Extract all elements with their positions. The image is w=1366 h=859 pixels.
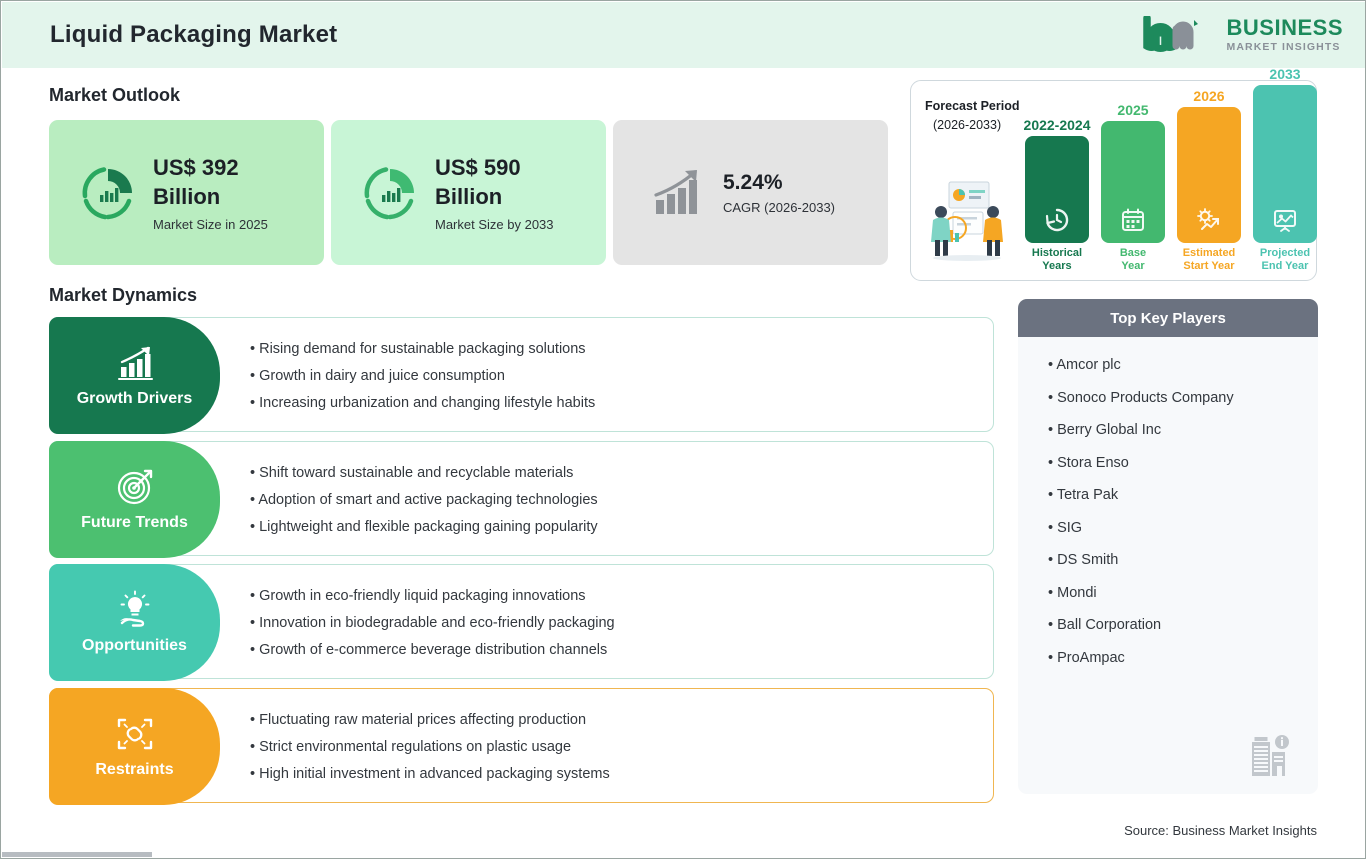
list-item: SIG xyxy=(1048,520,1318,536)
forecast-bar-estimated-start-year: 2026 Estimated Start Year xyxy=(1177,88,1241,275)
list-item: Berry Global Inc xyxy=(1048,422,1318,438)
market-outlook-heading: Market Outlook xyxy=(49,85,180,106)
dynamics-tab[interactable]: Future Trends xyxy=(49,441,220,558)
stat-caption: Market Size in 2025 xyxy=(153,217,268,232)
dynamics-card-future-trends: Future Trends Shift toward sustainable a… xyxy=(49,441,994,556)
page-title: Liquid Packaging Market xyxy=(50,21,337,49)
list-item: Innovation in biodegradable and eco-frie… xyxy=(250,615,981,631)
forecast-bar-base-year: 2025 Base Year xyxy=(1101,102,1165,275)
market-dynamics-heading: Market Dynamics xyxy=(49,285,197,306)
team-analytics-illustration xyxy=(919,176,1015,262)
list-item: High initial investment in advanced pack… xyxy=(250,766,981,782)
bar-caption: Historical Years xyxy=(1032,247,1082,275)
forecast-period-label: Forecast Period (2026-2033) xyxy=(925,97,1019,136)
list-item: Rising demand for sustainable packaging … xyxy=(250,341,981,357)
list-item: Sonoco Products Company xyxy=(1048,390,1318,406)
dynamics-bullet-list: Rising demand for sustainable packaging … xyxy=(250,318,981,433)
top-key-players-title: Top Key Players xyxy=(1018,299,1318,337)
list-item: Ball Corporation xyxy=(1048,617,1318,633)
list-item: Growth of e-commerce beverage distributi… xyxy=(250,642,981,658)
bar-year-label: 2025 xyxy=(1117,102,1148,118)
dynamics-tab-label: Restraints xyxy=(95,761,173,779)
list-item: Fluctuating raw material prices affectin… xyxy=(250,712,981,728)
dynamics-tab[interactable]: Restraints xyxy=(49,688,220,805)
list-item: Lightweight and flexible packaging gaini… xyxy=(250,519,981,535)
list-item: Amcor plc xyxy=(1048,357,1318,373)
forecast-label-line1: Forecast Period xyxy=(925,97,1019,116)
dynamics-card-opportunities: Opportunities Growth in eco-friendly liq… xyxy=(49,564,994,679)
list-item: Shift toward sustainable and recyclable … xyxy=(250,465,981,481)
page-header: Liquid Packaging Market BUSINESS MARKET … xyxy=(2,2,1365,68)
dynamics-tab-label: Growth Drivers xyxy=(77,390,193,408)
donut-chart-icon xyxy=(361,164,419,222)
bar-year-label: 2033 xyxy=(1269,66,1300,82)
logo-tagline-text: MARKET INSIGHTS xyxy=(1227,42,1343,53)
bar-body xyxy=(1101,121,1165,243)
dynamics-card-restraints: Restraints Fluctuating raw material pric… xyxy=(49,688,994,803)
forecast-period-panel: Forecast Period (2026-2033) xyxy=(910,80,1317,281)
calendar-icon xyxy=(1120,207,1146,233)
company-building-info-icon xyxy=(1246,732,1292,778)
list-item: ProAmpac xyxy=(1048,650,1318,666)
target-dart-icon xyxy=(115,467,155,507)
bar-caption: Base Year xyxy=(1120,247,1146,275)
forecast-bar-historical-years: 2022-2024 Historical Years xyxy=(1025,117,1089,275)
list-item: Increasing urbanization and changing lif… xyxy=(250,395,981,411)
bar-body xyxy=(1177,107,1241,243)
lightbulb-hand-icon xyxy=(115,590,155,630)
stat-value-line2: Billion xyxy=(435,182,554,211)
cagr-caption: CAGR (2026-2033) xyxy=(723,200,835,215)
bar-caption: Projected End Year xyxy=(1260,247,1310,275)
list-item: Stora Enso xyxy=(1048,455,1318,471)
broken-link-brackets-icon xyxy=(115,714,155,754)
stat-card-market-size-2025: US$ 392 Billion Market Size in 2025 xyxy=(49,120,324,265)
presentation-chart-icon xyxy=(1272,207,1298,233)
dynamics-tab[interactable]: Opportunities xyxy=(49,564,220,681)
bar-year-label: 2026 xyxy=(1193,88,1224,104)
dynamics-tab-label: Future Trends xyxy=(81,514,188,532)
infographic-page: Liquid Packaging Market BUSINESS MARKET … xyxy=(0,0,1366,859)
bar-chart-arrow-icon xyxy=(115,343,155,383)
history-clock-icon xyxy=(1044,207,1070,233)
dynamics-tab[interactable]: Growth Drivers xyxy=(49,317,220,434)
brand-logo: BUSINESS MARKET INSIGHTS xyxy=(1143,16,1343,54)
forecast-bar-projected-end-year: 2033 Projected End Year xyxy=(1253,66,1317,275)
bmi-logo-icon xyxy=(1143,16,1217,54)
dynamics-card-growth-drivers: Growth Drivers Rising demand for sustain… xyxy=(49,317,994,432)
stat-value-line1: US$ 392 xyxy=(153,153,268,182)
list-item: Growth in eco-friendly liquid packaging … xyxy=(250,588,981,604)
top-key-players-panel: Top Key Players Amcor plc Sonoco Product… xyxy=(1018,299,1318,794)
stat-card-market-size-2033: US$ 590 Billion Market Size by 2033 xyxy=(331,120,606,265)
list-item: Tetra Pak xyxy=(1048,487,1318,503)
stat-card-cagr: 5.24% CAGR (2026-2033) xyxy=(613,120,888,265)
dynamics-bullet-list: Fluctuating raw material prices affectin… xyxy=(250,689,981,804)
stat-value-line1: US$ 590 xyxy=(435,153,554,182)
stat-value-line2: Billion xyxy=(153,182,268,211)
forecast-label-line2: (2026-2033) xyxy=(925,116,1019,135)
list-item: Adoption of smart and active packaging t… xyxy=(250,492,981,508)
dynamics-bullet-list: Shift toward sustainable and recyclable … xyxy=(250,442,981,557)
bar-body xyxy=(1253,85,1317,243)
logo-brand-text: BUSINESS xyxy=(1227,17,1343,39)
stat-caption: Market Size by 2033 xyxy=(435,217,554,232)
bar-body xyxy=(1025,136,1089,243)
growth-bar-arrow-icon xyxy=(649,164,707,222)
donut-chart-icon xyxy=(79,164,137,222)
list-item: Mondi xyxy=(1048,585,1318,601)
dynamics-tab-label: Opportunities xyxy=(82,637,187,655)
bar-caption: Estimated Start Year xyxy=(1183,247,1236,275)
list-item: Strict environmental regulations on plas… xyxy=(250,739,981,755)
source-note: Source: Business Market Insights xyxy=(1124,823,1317,838)
gear-growth-icon xyxy=(1196,207,1222,233)
list-item: Growth in dairy and juice consumption xyxy=(250,368,981,384)
list-item: DS Smith xyxy=(1048,552,1318,568)
forecast-bar-chart: 2022-2024 Historical Years xyxy=(1021,89,1308,274)
horizontal-scrollbar[interactable] xyxy=(2,852,152,857)
bar-year-label: 2022-2024 xyxy=(1024,117,1091,133)
cagr-value: 5.24% xyxy=(723,170,835,195)
key-players-list: Amcor plc Sonoco Products Company Berry … xyxy=(1018,337,1318,666)
dynamics-bullet-list: Growth in eco-friendly liquid packaging … xyxy=(250,565,981,680)
